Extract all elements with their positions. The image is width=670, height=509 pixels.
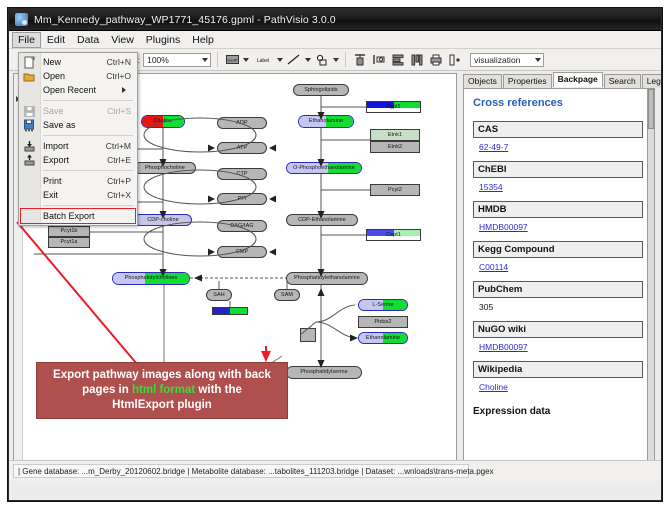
menu-bar: File Edit Data View Plugins Help — [9, 31, 661, 49]
label-tool-icon[interactable]: Label — [252, 52, 274, 68]
print-icon[interactable] — [428, 52, 444, 68]
status-text: | Gene database: ...m_Derby_20120602.bri… — [13, 464, 469, 478]
align-left-icon[interactable] — [371, 52, 387, 68]
stack-icon[interactable] — [447, 52, 463, 68]
xref-value-pubchem: 305 — [479, 302, 643, 312]
page-frame: Mm_Kennedy_pathway_WP1771_45176.gpml - P… — [0, 0, 670, 509]
status-bar: | Gene database: ...m_Derby_20120602.bri… — [9, 460, 662, 481]
side-panel: Objects Properties Backpage Search Legen… — [461, 73, 661, 477]
save-icon — [23, 105, 36, 118]
menu-help[interactable]: Help — [186, 32, 220, 48]
node-label: Sgpl1 — [386, 104, 400, 111]
menu-separator — [43, 205, 133, 206]
submenu-arrow-icon — [122, 87, 126, 93]
pathway-node-pcyt1b[interactable]: Pcyt1b — [48, 226, 90, 237]
node-label: Phosphatidylcholines — [125, 275, 178, 282]
node-fill-left — [213, 308, 230, 314]
toolbar-separator-2 — [345, 52, 346, 67]
file-menu-accelerator: Ctrl+S — [107, 106, 137, 116]
file-menu-accelerator: Ctrl+P — [107, 176, 137, 186]
callout-line-3: HtmlExport plugin — [112, 398, 212, 413]
node-label: SAH — [213, 292, 224, 299]
datanode-tool-icon[interactable]: GenP — [224, 52, 240, 68]
node-label: CDP-Ethanolamine — [298, 217, 346, 224]
pathway-node-ptdss2[interactable]: Ptdss2 — [358, 316, 408, 328]
node-label: CMP — [236, 249, 248, 256]
pathway-node-phosphatidylserine[interactable]: Phosphatidylserine — [286, 366, 362, 379]
callout-line-2-suffix: with the — [195, 384, 242, 396]
pathway-node-phosphatidylethanolamine[interactable]: Phosphatidylethanolamine — [286, 272, 368, 285]
pathway-node-ethanolamine-2[interactable]: Ethanolamine — [358, 332, 408, 344]
file-menu-item-open[interactable]: OpenCtrl+O — [19, 69, 137, 83]
pathway-node-pcyt2[interactable]: Pcyt2 — [370, 184, 420, 196]
node-label: Phosphatidylethanolamine — [294, 275, 360, 282]
file-menu-accelerator: Ctrl+N — [107, 57, 137, 67]
node-label: Ethanolamine — [309, 118, 343, 125]
file-menu-item-import[interactable]: ImportCtrl+M — [19, 139, 137, 153]
pathway-node-etnk2[interactable]: Etnk2 — [370, 141, 420, 153]
zoom-value: 100% — [147, 55, 169, 65]
pathway-node-etnk1[interactable]: Etnk1 — [370, 129, 420, 141]
shape-dropdown-icon[interactable] — [333, 58, 339, 62]
pathway-node-dag-iag[interactable]: DAG/IAG — [217, 220, 267, 232]
file-menu-item-new[interactable]: NewCtrl+N — [19, 55, 137, 69]
pathway-node-atp[interactable]: ATP — [217, 142, 267, 154]
file-menu-item-batch-export[interactable]: Batch Export — [19, 209, 137, 223]
export-icon — [23, 154, 36, 167]
node-label: Pcyt1a — [60, 239, 77, 246]
file-menu-item-open-recent[interactable]: Open Recent — [19, 83, 137, 97]
file-menu-accelerator: Ctrl+M — [106, 141, 137, 151]
node-label: O-Phosphoethanolamine — [293, 165, 355, 172]
pathway-node-ppi[interactable]: PPi — [217, 193, 267, 205]
xref-source-hmdb: HMDB — [473, 201, 643, 218]
node-label: SAM — [281, 292, 293, 299]
visualization-value: visualization — [474, 55, 520, 65]
node-label: ADP — [236, 120, 247, 127]
file-menu-label: Export — [43, 155, 107, 165]
file-menu-item-save[interactable]: SaveCtrl+S — [19, 104, 137, 118]
node-label: CTP — [236, 171, 247, 178]
file-menu-label: Batch Export — [43, 211, 131, 221]
title-bar: Mm_Kennedy_pathway_WP1771_45176.gpml - P… — [9, 9, 661, 31]
visualization-combo[interactable]: visualization — [470, 53, 544, 67]
callout-line-1: Export pathway images along with back — [53, 368, 271, 383]
line-dropdown-icon[interactable] — [305, 58, 311, 62]
node-label: Etnk2 — [388, 144, 402, 151]
menu-separator — [43, 170, 133, 171]
distribute-vertical-icon[interactable] — [390, 52, 406, 68]
shape-tool-icon[interactable] — [314, 52, 330, 68]
side-panel-scrollbar[interactable] — [647, 88, 655, 475]
svg-text:GenP: GenP — [227, 58, 238, 63]
file-menu-accelerator: Ctrl+X — [107, 190, 137, 200]
node-label: Pcyt2 — [388, 187, 402, 194]
align-top-icon[interactable] — [352, 52, 368, 68]
open-folder-icon — [23, 70, 36, 83]
tab-properties[interactable]: Properties — [503, 74, 552, 88]
node-label: Pcyt1b — [60, 228, 77, 235]
save-as-icon — [23, 119, 36, 132]
node-label: Phosphocholine — [145, 165, 185, 172]
pathway-node-o-phosphoethanolamine[interactable]: O-Phosphoethanolamine — [286, 162, 362, 174]
pathway-node-bt-right[interactable] — [300, 328, 316, 342]
xref-value-nugo-wiki[interactable]: HMDB00097 — [479, 342, 643, 352]
pathway-node-bt-mid[interactable] — [212, 307, 248, 315]
menu-edit[interactable]: Edit — [41, 32, 71, 48]
menu-file[interactable]: File — [12, 32, 41, 48]
pathway-node-l-serine[interactable]: L-Serine — [358, 299, 408, 311]
xref-source-pubchem: PubChem — [473, 281, 643, 298]
tab-backpage[interactable]: Backpage — [553, 72, 603, 87]
pathway-node-pcyt1a[interactable]: Pcyt1a — [48, 237, 90, 248]
file-menu-label: Save — [43, 106, 107, 116]
new-file-icon — [23, 56, 36, 69]
pathway-node-phosphatidylcholines[interactable]: Phosphatidylcholines — [112, 272, 190, 285]
pathway-node-sphingolipids[interactable]: Sphingolipids — [293, 84, 349, 96]
file-menu-label: Open — [43, 71, 106, 81]
file-menu-item-export[interactable]: ExportCtrl+E — [19, 153, 137, 167]
file-menu-dropdown[interactable]: NewCtrl+NOpenCtrl+OOpen RecentSaveCtrl+S… — [18, 52, 138, 226]
tab-search[interactable]: Search — [604, 74, 641, 88]
expression-data-heading: Expression data — [473, 406, 643, 417]
scrollbar-thumb[interactable] — [648, 89, 654, 129]
pathway-node-choline-top[interactable]: Choline — [141, 115, 185, 128]
pathway-node-cmp[interactable]: CMP — [217, 246, 267, 258]
xref-source-chebi: ChEBI — [473, 161, 643, 178]
node-label: CDP-choline — [147, 217, 178, 224]
node-label: Ptdss2 — [374, 319, 391, 326]
label-dropdown-icon[interactable] — [277, 58, 283, 62]
file-menu-item-print[interactable]: PrintCtrl+P — [19, 174, 137, 188]
toolbar-separator — [217, 52, 218, 67]
node-label: Cept1 — [386, 232, 401, 239]
xref-value-chebi[interactable]: 15354 — [479, 182, 643, 192]
file-menu-item-exit[interactable]: ExitCtrl+X — [19, 188, 137, 202]
pathway-node-ctp[interactable]: CTP — [217, 168, 267, 180]
node-label: Ethanolamine — [366, 335, 400, 342]
xref-source-kegg-compound: Kegg Compound — [473, 241, 643, 258]
pathvisio-icon — [15, 13, 28, 26]
window-title: Mm_Kennedy_pathway_WP1771_45176.gpml - P… — [34, 14, 336, 26]
node-label: DAG/IAG — [230, 223, 253, 230]
line-tool-icon[interactable] — [286, 52, 302, 68]
menu-plugins[interactable]: Plugins — [140, 32, 186, 48]
node-label: Sphingolipids — [304, 87, 337, 94]
pathway-node-ethanolamine-1[interactable]: Ethanolamine — [298, 115, 354, 128]
file-menu-label: Print — [43, 176, 107, 186]
side-panel-tabs: Objects Properties Backpage Search Legen… — [461, 73, 661, 88]
zoom-combo[interactable]: 100% — [143, 53, 211, 67]
svg-text:Label: Label — [257, 58, 269, 64]
annotation-callout: Export pathway images along with back pa… — [36, 362, 288, 419]
xref-value-hmdb[interactable]: HMDB00097 — [479, 222, 643, 232]
backpage-content: Cross references CAS62-49-7ChEBI15354HMD… — [463, 88, 653, 475]
xref-value-cas[interactable]: 62-49-7 — [479, 142, 643, 152]
menu-separator — [43, 100, 133, 101]
xref-source-wikipedia: Wikipedia — [473, 361, 643, 378]
cross-references-heading: Cross references — [473, 97, 643, 109]
node-label: Choline — [154, 118, 173, 125]
file-menu-accelerator: Ctrl+O — [106, 71, 137, 81]
datanode-dropdown-icon[interactable] — [243, 58, 249, 62]
chevron-down-icon-2 — [535, 58, 541, 62]
pathway-node-sam[interactable]: SAM — [274, 289, 300, 301]
file-menu-label: Exit — [43, 190, 107, 200]
batch-export-highlight[interactable]: Batch Export — [19, 209, 137, 223]
menu-view[interactable]: View — [105, 32, 140, 48]
pathway-node-cept1[interactable]: Cept1 — [366, 229, 421, 241]
import-icon — [23, 140, 36, 153]
pathway-node-sah[interactable]: SAH — [206, 289, 232, 301]
node-fill-right — [230, 308, 247, 314]
pathway-node-phosphocholine[interactable]: Phosphocholine — [134, 162, 196, 174]
xref-source-nugo-wiki: NuGO wiki — [473, 321, 643, 338]
file-menu-label: Save as — [43, 120, 131, 130]
pathway-node-cdp-ethanolamine[interactable]: CDP-Ethanolamine — [286, 214, 358, 226]
menu-data[interactable]: Data — [71, 32, 105, 48]
node-label: Phosphatidylserine — [300, 369, 347, 376]
cross-reference-list: CAS62-49-7ChEBI15354HMDBHMDB00097Kegg Co… — [473, 121, 643, 392]
file-menu-label: Import — [43, 141, 106, 151]
xref-source-cas: CAS — [473, 121, 643, 138]
file-menu-items: NewCtrl+NOpenCtrl+OOpen RecentSaveCtrl+S… — [19, 55, 137, 223]
file-menu-label: New — [43, 57, 107, 67]
pathway-node-cdp-choline[interactable]: CDP-choline — [134, 214, 192, 226]
xref-value-kegg-compound[interactable]: C00114 — [479, 262, 643, 272]
xref-value-wikipedia[interactable]: Choline — [479, 382, 643, 392]
distribute-horizontal-icon[interactable] — [409, 52, 425, 68]
pathway-node-adp[interactable]: ADP — [217, 117, 267, 129]
callout-line-2-prefix: pages in — [82, 384, 132, 396]
file-menu-item-save-as[interactable]: Save as — [19, 118, 137, 132]
tab-objects[interactable]: Objects — [463, 74, 502, 88]
file-menu-label: Open Recent — [43, 85, 122, 95]
node-label: ATP — [237, 145, 247, 152]
pathway-node-sgpl1[interactable]: Sgpl1 — [366, 101, 421, 113]
node-label: PPi — [238, 196, 247, 203]
callout-line-2: pages in html format with the — [82, 383, 242, 398]
node-label: L-Serine — [372, 302, 393, 309]
callout-highlight: html format — [132, 384, 195, 396]
node-label: Etnk1 — [388, 132, 402, 139]
menu-separator — [43, 135, 133, 136]
application-window: Mm_Kennedy_pathway_WP1771_45176.gpml - P… — [8, 8, 662, 501]
chevron-down-icon — [202, 58, 208, 62]
tab-legend[interactable]: Legend — [642, 74, 662, 88]
file-menu-accelerator: Ctrl+E — [107, 155, 137, 165]
